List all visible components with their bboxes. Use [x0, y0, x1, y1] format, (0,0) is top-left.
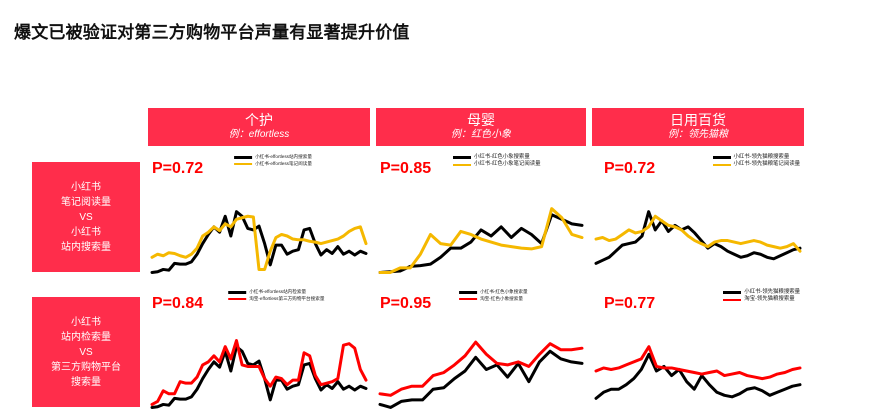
- pvalue-label: P=0.72: [152, 160, 203, 178]
- legend-swatch: [228, 298, 246, 301]
- legend-swatch: [234, 156, 252, 159]
- legend-item: 淘宝-effortless第三方购物平台搜索量: [228, 297, 324, 302]
- chart-cell-r1c3: P=0.72 小红书-领先猫粮搜索量小红书-领先猫粮笔记阅读量: [592, 152, 804, 282]
- row-label-line: 第三方购物平台: [51, 360, 121, 375]
- legend-label: 小红书-领先猫粮笔记阅读量: [734, 162, 800, 167]
- comparison-grid: 个护 例：effortless 母婴 例：红色小象 日用百货 例：领先猫粮 小红…: [0, 0, 882, 416]
- legend-label: 小红书-effortless站内检索量: [249, 290, 306, 295]
- row-label-search-vs-thirdparty: 小红书 站内检索量 VS 第三方购物平台 搜索量: [32, 297, 140, 407]
- row-label-line: 小红书: [61, 180, 111, 195]
- chart-legend: 小红书-领先猫粮搜索量淘宝-领先猫粮搜索量: [723, 290, 800, 303]
- chart-cell-r2c3: P=0.77 小红书-领先猫粮搜索量淘宝-领先猫粮搜索量: [592, 287, 804, 417]
- legend-item: 小红书-红色小象搜索量: [453, 155, 530, 160]
- chart-cell-r2c1: P=0.84 小红书-effortless站内检索量淘宝-effortless第…: [148, 287, 370, 417]
- row-label-line: VS: [51, 345, 121, 360]
- pvalue-label: P=0.85: [380, 160, 431, 178]
- row-label-line: 站内检索量: [51, 330, 121, 345]
- legend-label: 淘宝-effortless第三方购物平台搜索量: [249, 297, 324, 302]
- legend-swatch: [453, 164, 471, 167]
- series-line: [152, 347, 366, 408]
- legend-swatch: [453, 156, 471, 159]
- row-label-line: 小红书: [51, 315, 121, 330]
- legend-item: 小红书-effortless站内检索量: [228, 290, 306, 295]
- legend-item: 小红书-effortless站内搜索量: [234, 155, 312, 160]
- chart-legend: 小红书-领先猫粮搜索量小红书-领先猫粮笔记阅读量: [713, 155, 800, 168]
- column-example: 例：红色小象: [451, 130, 511, 141]
- legend-label: 淘宝-领先猫粮搜索量: [744, 297, 794, 302]
- legend-item: 小红书-effortless笔记阅读量: [234, 162, 312, 167]
- column-header-personal-care: 个护 例：effortless: [148, 108, 370, 146]
- series-line: [380, 351, 582, 407]
- legend-label: 小红书-领先猫粮搜索量: [744, 290, 800, 295]
- chart-cell-r2c2: P=0.95 小红书-红色小象搜索量淘宝-红色小象搜索量: [376, 287, 586, 417]
- series-line: [152, 341, 366, 405]
- column-title: 日用百货: [670, 113, 726, 128]
- row-label-line: 小红书: [61, 225, 111, 240]
- legend-swatch: [713, 156, 731, 159]
- column-header-maternal-baby: 母婴 例：红色小象: [376, 108, 586, 146]
- row-label-line: 站内搜索量: [61, 240, 111, 255]
- row-label-reading-vs-search: 小红书 笔记阅读量 VS 小红书 站内搜索量: [32, 162, 140, 272]
- legend-item: 淘宝-领先猫粮搜索量: [723, 297, 794, 302]
- legend-swatch: [723, 291, 741, 294]
- legend-label: 小红书-红色小象搜索量: [480, 290, 527, 295]
- legend-swatch: [459, 291, 477, 294]
- chart-cell-r1c1: P=0.72 小红书-effortless站内搜索量小红书-effortless…: [148, 152, 370, 282]
- legend-label: 小红书-红色小象搜索量: [474, 155, 530, 160]
- legend-item: 小红书-领先猫粮笔记阅读量: [713, 162, 800, 167]
- column-header-daily-goods: 日用百货 例：领先猫粮: [592, 108, 804, 146]
- legend-label: 小红书-红色小象笔记阅读量: [474, 162, 540, 167]
- legend-item: 小红书-红色小象搜索量: [459, 290, 527, 295]
- chart-cell-r1c2: P=0.85 小红书-红色小象搜索量小红书-红色小象笔记阅读量: [376, 152, 586, 282]
- column-example: 例：领先猫粮: [668, 130, 728, 141]
- legend-item: 小红书-红色小象笔记阅读量: [453, 162, 540, 167]
- legend-item: 小红书-领先猫粮搜索量: [713, 155, 790, 160]
- pvalue-label: P=0.84: [152, 295, 203, 313]
- column-title: 个护: [245, 113, 273, 128]
- series-line: [596, 212, 800, 264]
- series-line: [596, 216, 800, 251]
- series-line: [380, 342, 582, 395]
- series-line: [380, 215, 582, 273]
- row-label-line: VS: [61, 210, 111, 225]
- row-label-line: 笔记阅读量: [61, 195, 111, 210]
- chart-legend: 小红书-effortless站内搜索量小红书-effortless笔记阅读量: [234, 155, 312, 166]
- row-label-line: 搜索量: [51, 375, 121, 390]
- chart-legend: 小红书-effortless站内检索量淘宝-effortless第三方购物平台搜…: [228, 290, 324, 301]
- pvalue-label: P=0.72: [604, 160, 655, 178]
- pvalue-label: P=0.77: [604, 295, 655, 313]
- legend-swatch: [723, 299, 741, 302]
- legend-swatch: [228, 291, 246, 294]
- legend-swatch: [713, 164, 731, 167]
- legend-swatch: [234, 163, 252, 166]
- column-title: 母婴: [467, 113, 495, 128]
- pvalue-label: P=0.95: [380, 295, 431, 313]
- series-line: [596, 347, 800, 379]
- legend-label: 淘宝-红色小象搜索量: [480, 297, 523, 302]
- legend-item: 淘宝-红色小象搜索量: [459, 297, 523, 302]
- chart-legend: 小红书-红色小象搜索量小红书-红色小象笔记阅读量: [453, 155, 540, 168]
- legend-label: 小红书-effortless笔记阅读量: [255, 162, 312, 167]
- legend-item: 小红书-领先猫粮搜索量: [723, 290, 800, 295]
- legend-label: 小红书-领先猫粮搜索量: [734, 155, 790, 160]
- legend-label: 小红书-effortless站内搜索量: [255, 155, 312, 160]
- series-line: [152, 216, 366, 269]
- legend-swatch: [459, 298, 477, 301]
- column-example: 例：effortless: [229, 130, 290, 141]
- chart-legend: 小红书-红色小象搜索量淘宝-红色小象搜索量: [459, 290, 527, 301]
